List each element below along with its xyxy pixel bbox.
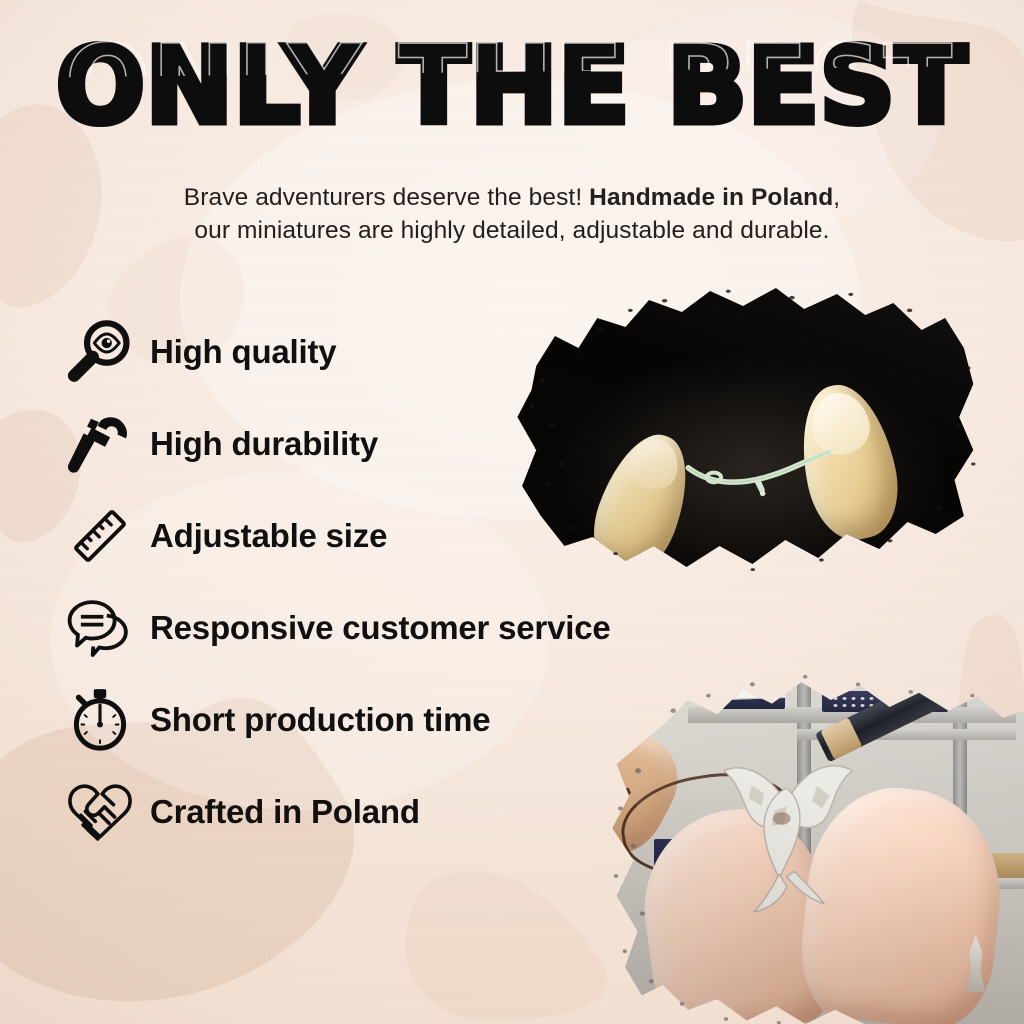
feature-label: Crafted in Poland [150, 793, 420, 831]
subtitle-line1-pre: Brave adventurers deserve the best! [184, 184, 589, 211]
promo-banner: ONLY THE BEST ONLY THE BEST Brave advent… [0, 0, 1024, 1024]
feature-item-crafted-in-poland[interactable]: Crafted in Poland [64, 766, 764, 858]
feature-list: High quality High durability [64, 306, 764, 858]
subtitle-line1-bold: Handmade in Poland [589, 184, 833, 211]
speech-bubbles-icon [64, 592, 136, 664]
feature-item-adjustable-size[interactable]: Adjustable size [64, 490, 764, 582]
feature-item-high-quality[interactable]: High quality [64, 306, 764, 398]
feature-label: High quality [150, 333, 336, 371]
feature-item-short-production-time[interactable]: Short production time [64, 674, 764, 766]
page-title: ONLY THE BEST [0, 34, 1024, 138]
subtitle-line1-post: , [833, 184, 840, 211]
ruler-icon [64, 500, 136, 572]
feature-label: Adjustable size [150, 517, 387, 555]
feature-label: Responsive customer service [150, 609, 611, 647]
handshake-heart-icon [64, 776, 136, 848]
feature-label: Short production time [150, 701, 490, 739]
feature-label: High durability [150, 425, 378, 463]
subtitle: Brave adventurers deserve the best! Hand… [96, 182, 928, 247]
feature-item-high-durability[interactable]: High durability [64, 398, 764, 490]
magnifier-eye-icon [64, 316, 136, 388]
stopwatch-icon [64, 684, 136, 756]
feature-item-responsive-customer-service[interactable]: Responsive customer service [64, 582, 764, 674]
subtitle-line2: our miniatures are highly detailed, adju… [194, 217, 829, 244]
hammer-icon [64, 408, 136, 480]
